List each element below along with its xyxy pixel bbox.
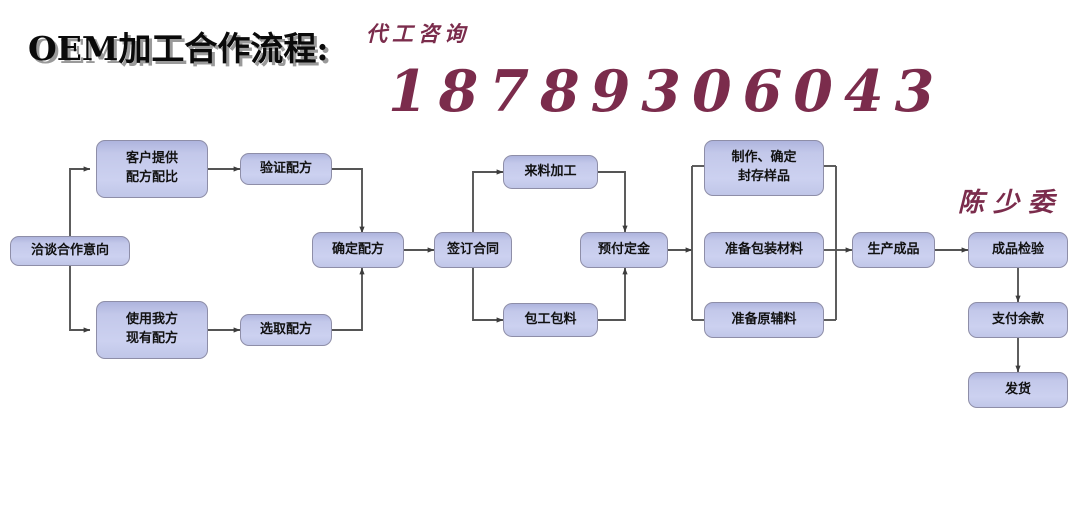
node-label: 确定配方	[313, 241, 403, 260]
node-prepare-packaging-materials[interactable]: 准备包装材料	[704, 232, 824, 268]
node-label: 洽谈合作意向	[11, 242, 129, 261]
contact-phone-number: 18789306043	[388, 58, 945, 125]
signature-watermark: 陈少委	[958, 182, 1063, 219]
node-full-package-service[interactable]: 包工包料	[503, 303, 598, 337]
node-verify-formula[interactable]: 验证配方	[240, 153, 332, 185]
node-finished-goods-inspection[interactable]: 成品检验	[968, 232, 1068, 268]
node-negotiate-intent[interactable]: 洽谈合作意向	[10, 236, 130, 266]
node-label: 包工包料	[504, 311, 597, 330]
node-sign-contract[interactable]: 签订合同	[434, 232, 512, 268]
node-customer-provides-formula[interactable]: 客户提供 配方配比	[96, 140, 208, 198]
node-produce-finished-goods[interactable]: 生产成品	[852, 232, 935, 268]
node-label: 发货	[969, 381, 1067, 400]
node-label: 准备包装材料	[705, 241, 823, 260]
node-label: 支付余款	[969, 311, 1067, 330]
node-label: 成品检验	[969, 241, 1067, 260]
node-label: 生产成品	[853, 241, 934, 260]
node-use-our-existing-formula[interactable]: 使用我方 现有配方	[96, 301, 208, 359]
flowchart-canvas: OEM加工合作流程: 代工咨询 18789306043 陈少委	[0, 0, 1080, 505]
node-label-line2: 配方配比	[97, 169, 207, 188]
page-title: OEM加工合作流程:	[28, 22, 329, 70]
node-label-line1: 制作、确定	[705, 149, 823, 168]
node-label: 验证配方	[241, 160, 331, 179]
node-label: 选取配方	[241, 321, 331, 340]
node-make-confirm-sealed-sample[interactable]: 制作、确定 封存样品	[704, 140, 824, 196]
node-label-line1: 客户提供	[97, 150, 207, 169]
node-label: 来料加工	[504, 163, 597, 182]
consult-label: 代工咨询	[366, 18, 470, 48]
node-label-line2: 封存样品	[705, 168, 823, 187]
node-ship-goods[interactable]: 发货	[968, 372, 1068, 408]
node-advance-deposit[interactable]: 预付定金	[580, 232, 668, 268]
node-pay-balance[interactable]: 支付余款	[968, 302, 1068, 338]
node-select-formula[interactable]: 选取配方	[240, 314, 332, 346]
node-confirm-formula[interactable]: 确定配方	[312, 232, 404, 268]
node-label: 签订合同	[435, 241, 511, 260]
node-prepare-raw-materials[interactable]: 准备原辅料	[704, 302, 824, 338]
node-label: 准备原辅料	[705, 311, 823, 330]
node-label-line1: 使用我方	[97, 311, 207, 330]
node-label-line2: 现有配方	[97, 330, 207, 349]
node-label: 预付定金	[581, 241, 667, 260]
node-material-processing[interactable]: 来料加工	[503, 155, 598, 189]
